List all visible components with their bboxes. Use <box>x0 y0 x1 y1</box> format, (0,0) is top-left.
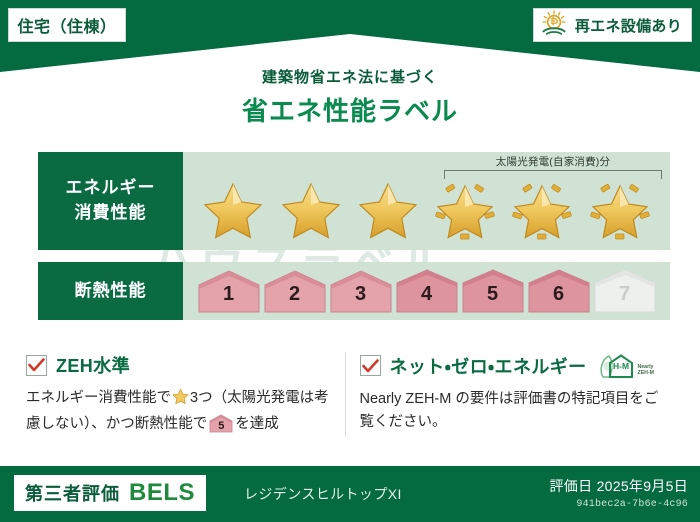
renewable-badge-label: 再エネ設備あり <box>575 15 682 36</box>
insulation-level-scale: 1 2 3 <box>183 262 670 320</box>
insulation-performance-body: 1 2 3 <box>183 262 670 320</box>
insulation-level-badge: 3 <box>329 268 393 314</box>
title-main: 省エネ性能ラベル <box>0 91 700 128</box>
criterion-title: ネット・ゼロ・エネルギー <box>390 353 587 379</box>
evaluation-info: 評価日 2025年9月5日 941bec2a-7b6e-4c96 <box>549 476 688 510</box>
insulation-level-badge: 1 <box>197 268 261 314</box>
star-icon <box>278 176 344 246</box>
criterion-description: エネルギー消費性能で 3つ（太陽光発電は考慮しない）、かつ断熱性能で 5 を達成 <box>26 387 333 437</box>
insulation-level-value: 3 <box>355 283 366 306</box>
evaluation-date-label: 評価日 <box>549 478 592 494</box>
criterion-net-zero-energy: ネット・ゼロ・エネルギー H-M Nearly ZEH-M Nearly ZEH… <box>345 352 679 437</box>
check-icon <box>26 355 47 376</box>
zeh-m-logo: H-M Nearly ZEH-M <box>600 352 654 379</box>
insulation-level-badge: 5 <box>461 268 525 314</box>
sun-renewable-icon <box>540 10 570 41</box>
star-icon <box>172 388 189 413</box>
performance-rows: エネルギー 消費性能 太陽光発電(自家消費)分 <box>38 152 670 320</box>
energy-performance-label: エネルギー 消費性能 <box>38 152 183 250</box>
criterion-title: ZEH水準 <box>56 352 130 378</box>
criterion-text-pre: エネルギー消費性能で <box>26 390 171 406</box>
insulation-level-value: 2 <box>289 283 300 306</box>
star-icon <box>200 176 266 246</box>
insulation-level-value: 4 <box>421 283 432 306</box>
evaluation-date: 評価日 2025年9月5日 <box>549 476 688 496</box>
property-name: レジデンスヒルトップXI <box>244 484 402 504</box>
insulation-performance-label: 断熱性能 <box>38 262 183 320</box>
page-title: 建築物省エネ法に基づく 省エネ性能ラベル <box>0 66 700 128</box>
insulation-level-value: 7 <box>619 283 630 306</box>
insulation-level-badge: 6 <box>527 268 591 314</box>
solar-annotation-label: 太陽光発電(自家消費)分 <box>444 154 662 169</box>
energy-performance-row: エネルギー 消費性能 太陽光発電(自家消費)分 <box>38 152 670 250</box>
energy-label-line2: 消費性能 <box>75 201 147 226</box>
insulation-level-badge: 2 <box>263 268 327 314</box>
criterion-zeh-standard: ZEH水準 エネルギー消費性能で 3つ（太陽光発電は考慮しない）、かつ断熱性能で… <box>26 352 345 437</box>
title-subtitle: 建築物省エネ法に基づく <box>0 66 700 87</box>
renewable-equipment-badge: 再エネ設備あり <box>533 8 692 42</box>
star-solar-icon <box>432 176 498 246</box>
check-icon <box>360 355 381 376</box>
evaluation-date-value: 2025年9月5日 <box>597 478 688 494</box>
star-solar-icon <box>509 176 575 246</box>
energy-performance-body: 太陽光発電(自家消費)分 <box>183 152 670 250</box>
bels-certification-box: 第三者評価 BELS <box>14 475 206 511</box>
zeh-m-mark: H-M <box>613 361 629 371</box>
insulation-level-badge: 4 <box>395 268 459 314</box>
insulation-level-value: 6 <box>553 283 564 306</box>
zeh-m-sublabel: Nearly ZEH-M <box>638 365 654 379</box>
insulation-level-value: 5 <box>487 283 498 306</box>
star-solar-icon <box>587 176 653 246</box>
criterion-header: ZEH水準 <box>26 352 333 378</box>
insulation-level-value: 1 <box>223 283 234 306</box>
star-icon <box>355 176 421 246</box>
criterion-text-post: を達成 <box>235 416 279 432</box>
footer-bar: 第三者評価 BELS レジデンスヒルトップXI 評価日 2025年9月5日 94… <box>0 466 700 522</box>
star-rating <box>183 174 670 248</box>
insulation-label-line1: 断熱性能 <box>75 279 147 304</box>
document-id: 941bec2a-7b6e-4c96 <box>549 499 688 510</box>
housing-type-tag: 住宅（住棟） <box>8 8 126 42</box>
insulation-performance-row: 断熱性能 1 <box>38 262 670 320</box>
housing-type-label: 住宅（住棟） <box>17 13 116 37</box>
energy-label-root: 住宅（住棟） 再エネ設備あり 建築物省エ <box>0 0 700 522</box>
criterion-description: Nearly ZEH-M の要件は評価書の特記項目をご覧ください。 <box>360 388 667 435</box>
criteria-section: ZEH水準 エネルギー消費性能で 3つ（太陽光発電は考慮しない）、かつ断熱性能で… <box>26 352 678 437</box>
bels-jp-label: 第三者評価 <box>25 480 120 506</box>
criterion-header: ネット・ゼロ・エネルギー H-M Nearly ZEH-M <box>360 352 667 379</box>
insulation-level-value-inline: 5 <box>209 418 233 436</box>
bels-en-label: BELS <box>129 479 195 507</box>
insulation-level-badge-inactive: 7 <box>593 268 657 314</box>
energy-label-line1: エネルギー <box>66 176 156 201</box>
insulation-level-badge-inline: 5 <box>209 414 233 433</box>
zeh-m-sub-line2: ZEH-M <box>638 370 654 376</box>
